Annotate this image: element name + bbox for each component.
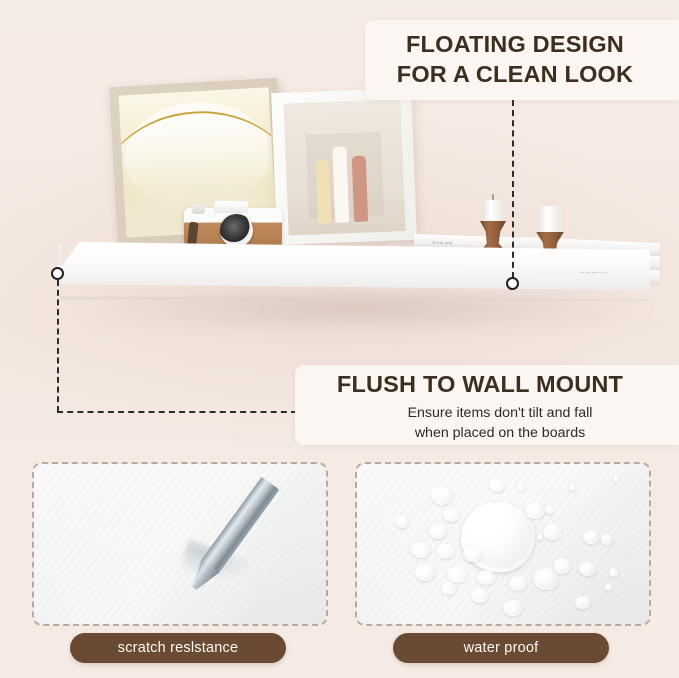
water-droplet (543, 524, 562, 540)
water-droplet (517, 482, 525, 491)
white-framed-art-print (271, 88, 417, 245)
water-droplet (477, 570, 496, 585)
water-droplet (503, 600, 523, 616)
product-feature-image: Great and INTERIOR DECORATION RISE HOUSE… (0, 0, 679, 678)
still-life-artwork (284, 99, 406, 235)
water-droplet (579, 562, 596, 576)
water-droplet (553, 558, 571, 574)
water-droplet (447, 566, 468, 583)
water-droplet (569, 484, 576, 491)
leader-dot-floating-design (506, 277, 519, 290)
water-droplet (443, 508, 460, 522)
artwork-bottle-terracotta (351, 156, 368, 222)
callout-title-floating-design: FLOATING DESIGN FOR A CLEAN LOOK (365, 29, 665, 89)
pillar-candle (483, 200, 503, 222)
leader-line-flush-mount-vertical (57, 280, 59, 412)
callout-panel-flush-mount: FLUSH TO WALL MOUNT Ensure items don't t… (295, 365, 679, 445)
pillar-candle (538, 206, 562, 233)
callout-panel-floating-design: FLOATING DESIGN FOR A CLEAN LOOK (365, 20, 679, 100)
feature-label-scratch-resistance: scratch reslstance (70, 633, 286, 663)
water-droplet (463, 546, 483, 562)
water-droplet (545, 506, 554, 514)
feature-label-water-proof: water proof (393, 633, 609, 663)
water-droplet (489, 478, 506, 492)
water-droplet (411, 542, 431, 558)
water-droplet (605, 584, 612, 591)
floating-shelf (0, 236, 679, 346)
water-droplet (437, 544, 455, 559)
camera-viewfinder (214, 201, 248, 213)
water-droplet (609, 568, 618, 577)
water-droplet (415, 564, 435, 581)
artwork-bottle-cream (316, 160, 331, 224)
leader-line-flush-mount-horizontal (57, 411, 297, 413)
feature-card-water-proof (355, 462, 651, 626)
callout-subtitle-flush-mount: Ensure items don't tilt and fall when pl… (335, 403, 665, 443)
water-droplet (429, 524, 447, 539)
leader-dot-flush-mount (51, 267, 64, 280)
water-droplet (471, 588, 489, 603)
water-droplet (613, 476, 619, 482)
camera-dial (192, 204, 205, 214)
artwork-bottle-white (332, 146, 349, 223)
water-droplet (525, 502, 545, 519)
shelf-surface-closeup (34, 464, 326, 624)
water-droplet (575, 596, 591, 609)
water-droplet (441, 582, 457, 595)
callout-title-flush-mount: FLUSH TO WALL MOUNT (295, 371, 665, 398)
water-droplet (431, 486, 453, 505)
feature-card-scratch-resistance (32, 462, 328, 626)
water-droplet (583, 530, 599, 544)
water-droplet (601, 534, 613, 545)
water-droplet (395, 516, 409, 528)
water-droplet (537, 534, 543, 540)
water-droplet (509, 576, 527, 591)
leader-line-floating-design (512, 100, 514, 278)
